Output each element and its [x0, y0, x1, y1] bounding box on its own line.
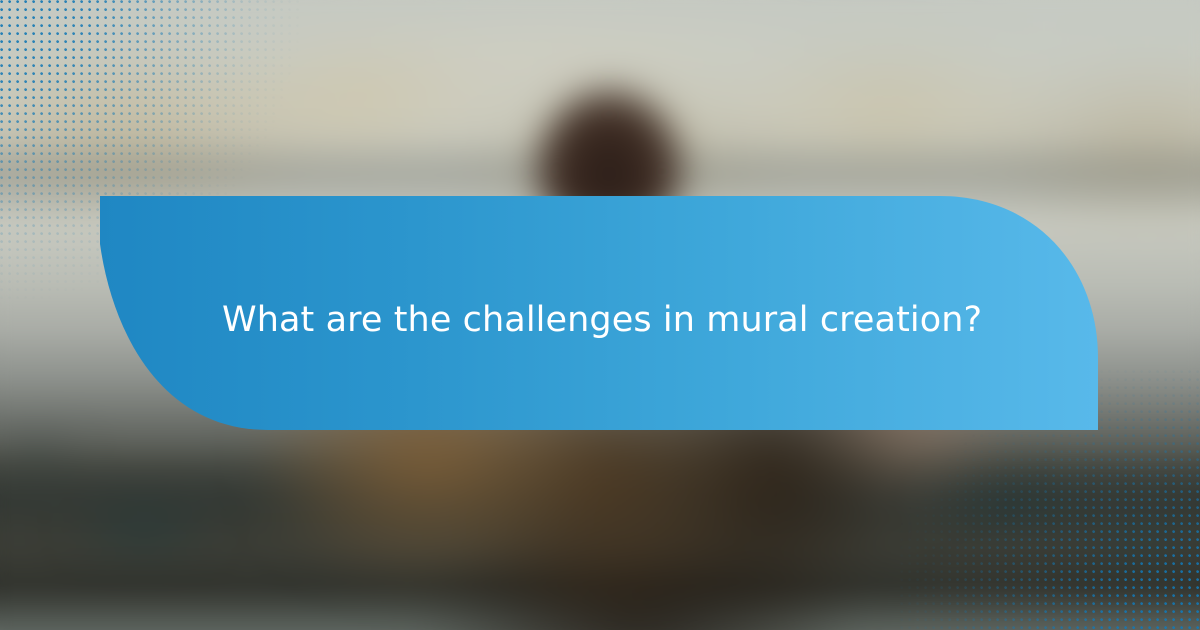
- headline-text: What are the challenges in mural creatio…: [222, 299, 1082, 343]
- social-card: What are the challenges in mural creatio…: [0, 0, 1200, 630]
